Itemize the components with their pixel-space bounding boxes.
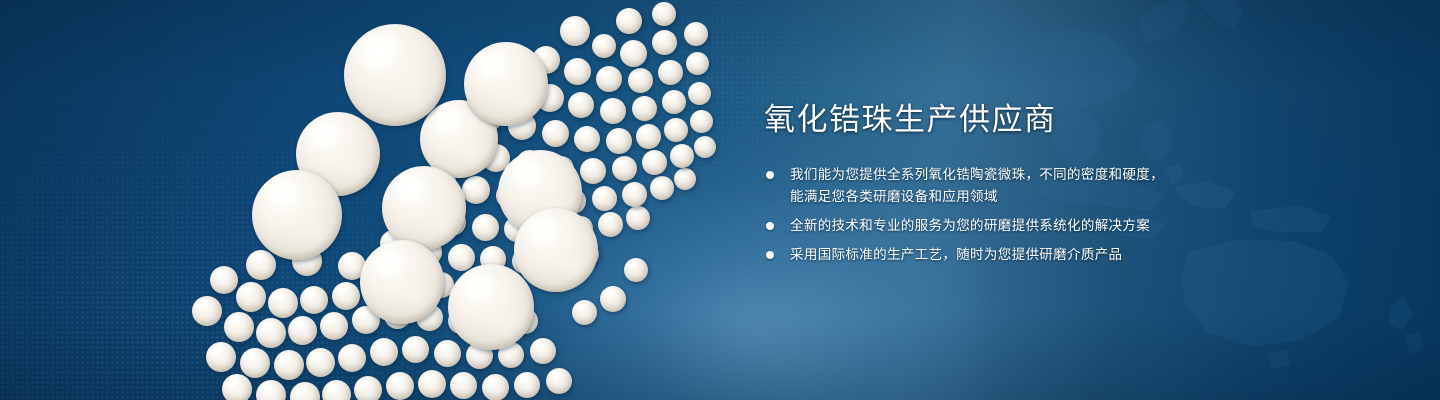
zirconia-bead	[344, 24, 446, 126]
zirconia-bead	[542, 120, 569, 147]
bullet-text-1-line-1: 我们能为您提供全系列氧化锆陶瓷微珠，不同的密度和硬度，	[790, 167, 1164, 182]
bullet-item-1: 我们能为您提供全系列氧化锆陶瓷微珠，不同的密度和硬度， 能满足您各类研磨设备和应…	[764, 164, 1264, 208]
zirconia-bead	[222, 374, 252, 400]
banner-copy: 氧化锆珠生产供应商 我们能为您提供全系列氧化锆陶瓷微珠，不同的密度和硬度， 能满…	[764, 100, 1264, 273]
zirconia-bead	[596, 66, 622, 92]
zirconia-bead	[300, 286, 328, 314]
zirconia-bead	[628, 68, 653, 93]
bullet-item-2: 全新的技术和专业的服务为您的研磨提供系统化的解决方案	[764, 215, 1264, 237]
zirconia-bead	[612, 156, 637, 181]
zirconia-bead	[598, 212, 623, 237]
zirconia-bead	[688, 82, 711, 105]
zirconia-bead	[192, 296, 222, 326]
zirconia-bead	[402, 336, 429, 363]
zirconia-bead	[322, 380, 351, 400]
zirconia-bead	[240, 348, 270, 378]
zirconia-bead	[620, 40, 647, 67]
zirconia-bead	[684, 22, 708, 46]
zirconia-bead	[564, 58, 591, 85]
zirconia-bead	[574, 126, 600, 152]
zirconia-bead	[370, 338, 398, 366]
zirconia-bead	[256, 380, 286, 400]
banner-bullet-list: 我们能为您提供全系列氧化锆陶瓷微珠，不同的密度和硬度， 能满足您各类研磨设备和应…	[764, 164, 1264, 266]
zirconia-bead	[224, 312, 254, 342]
bullet-item-3: 采用国际标准的生产工艺，随时为您提供研磨介质产品	[764, 244, 1264, 266]
bullet-text-1-line-2: 能满足您各类研磨设备和应用领域	[790, 186, 1264, 208]
zirconia-bead	[632, 96, 657, 121]
zirconia-bead	[530, 338, 556, 364]
zirconia-bead	[338, 344, 366, 372]
zirconia-bead	[252, 170, 342, 260]
zirconia-bead	[418, 370, 446, 398]
zirconia-bead	[664, 118, 688, 142]
zirconia-bead	[290, 382, 320, 400]
zirconia-bead	[580, 158, 606, 184]
zirconia-bead	[206, 342, 236, 372]
zirconia-bead	[434, 340, 461, 367]
zirconia-bead	[448, 264, 534, 350]
zirconia-bead	[236, 282, 266, 312]
zirconia-bead	[626, 206, 650, 230]
zirconia-bead	[606, 128, 632, 154]
zirconia-bead	[694, 136, 716, 158]
zirconia-bead	[546, 368, 572, 394]
bullet-dot-icon	[766, 222, 774, 230]
zirconia-bead	[514, 208, 598, 292]
zirconia-bead	[560, 16, 590, 46]
zirconia-bead	[450, 372, 477, 399]
zirconia-bead	[462, 176, 490, 204]
zirconia-bead	[652, 2, 676, 26]
zirconia-bead	[306, 348, 335, 377]
zirconia-bead	[320, 312, 348, 340]
zirconia-bead	[246, 250, 276, 280]
zirconia-bead	[686, 52, 709, 75]
zirconia-beads-image	[0, 0, 760, 400]
zirconia-bead	[472, 214, 499, 241]
zirconia-bead	[210, 266, 238, 294]
zirconia-bead	[636, 124, 661, 149]
zirconia-bead	[652, 30, 677, 55]
zirconia-bead	[568, 92, 594, 118]
zirconia-bead	[600, 286, 626, 312]
zirconia-bead	[600, 98, 626, 124]
zirconia-bead	[386, 372, 414, 400]
zirconia-bead	[624, 258, 648, 282]
zirconia-bead	[674, 168, 696, 190]
zirconia-bead	[642, 150, 667, 175]
zirconia-bead	[464, 42, 548, 126]
zirconia-bead	[288, 316, 317, 345]
zirconia-bead	[268, 288, 298, 318]
zirconia-bead	[662, 90, 686, 114]
zirconia-bead	[622, 182, 647, 207]
zirconia-bead	[332, 282, 360, 310]
zirconia-bead	[616, 8, 642, 34]
zirconia-bead	[382, 166, 466, 250]
zirconia-bead	[482, 374, 509, 400]
zirconia-bead	[690, 110, 713, 133]
banner-title: 氧化锆珠生产供应商	[764, 100, 1264, 140]
zirconia-bead	[658, 60, 683, 85]
zirconia-bead	[592, 186, 617, 211]
zirconia-bead	[670, 144, 694, 168]
zirconia-bead	[360, 240, 444, 324]
zirconia-bead	[256, 318, 286, 348]
zirconia-bead	[514, 372, 540, 398]
hero-banner: 氧化锆珠生产供应商 我们能为您提供全系列氧化锆陶瓷微珠，不同的密度和硬度， 能满…	[0, 0, 1440, 400]
zirconia-bead	[592, 34, 616, 58]
bullet-dot-icon	[766, 171, 774, 179]
zirconia-bead	[572, 300, 597, 325]
zirconia-bead	[650, 176, 674, 200]
zirconia-bead	[354, 376, 382, 400]
bullet-dot-icon	[766, 251, 774, 259]
zirconia-bead	[448, 244, 475, 271]
bullet-text-3-line-1: 采用国际标准的生产工艺，随时为您提供研磨介质产品	[790, 247, 1122, 262]
zirconia-bead	[274, 350, 304, 380]
bullet-text-2-line-1: 全新的技术和专业的服务为您的研磨提供系统化的解决方案	[790, 218, 1150, 233]
